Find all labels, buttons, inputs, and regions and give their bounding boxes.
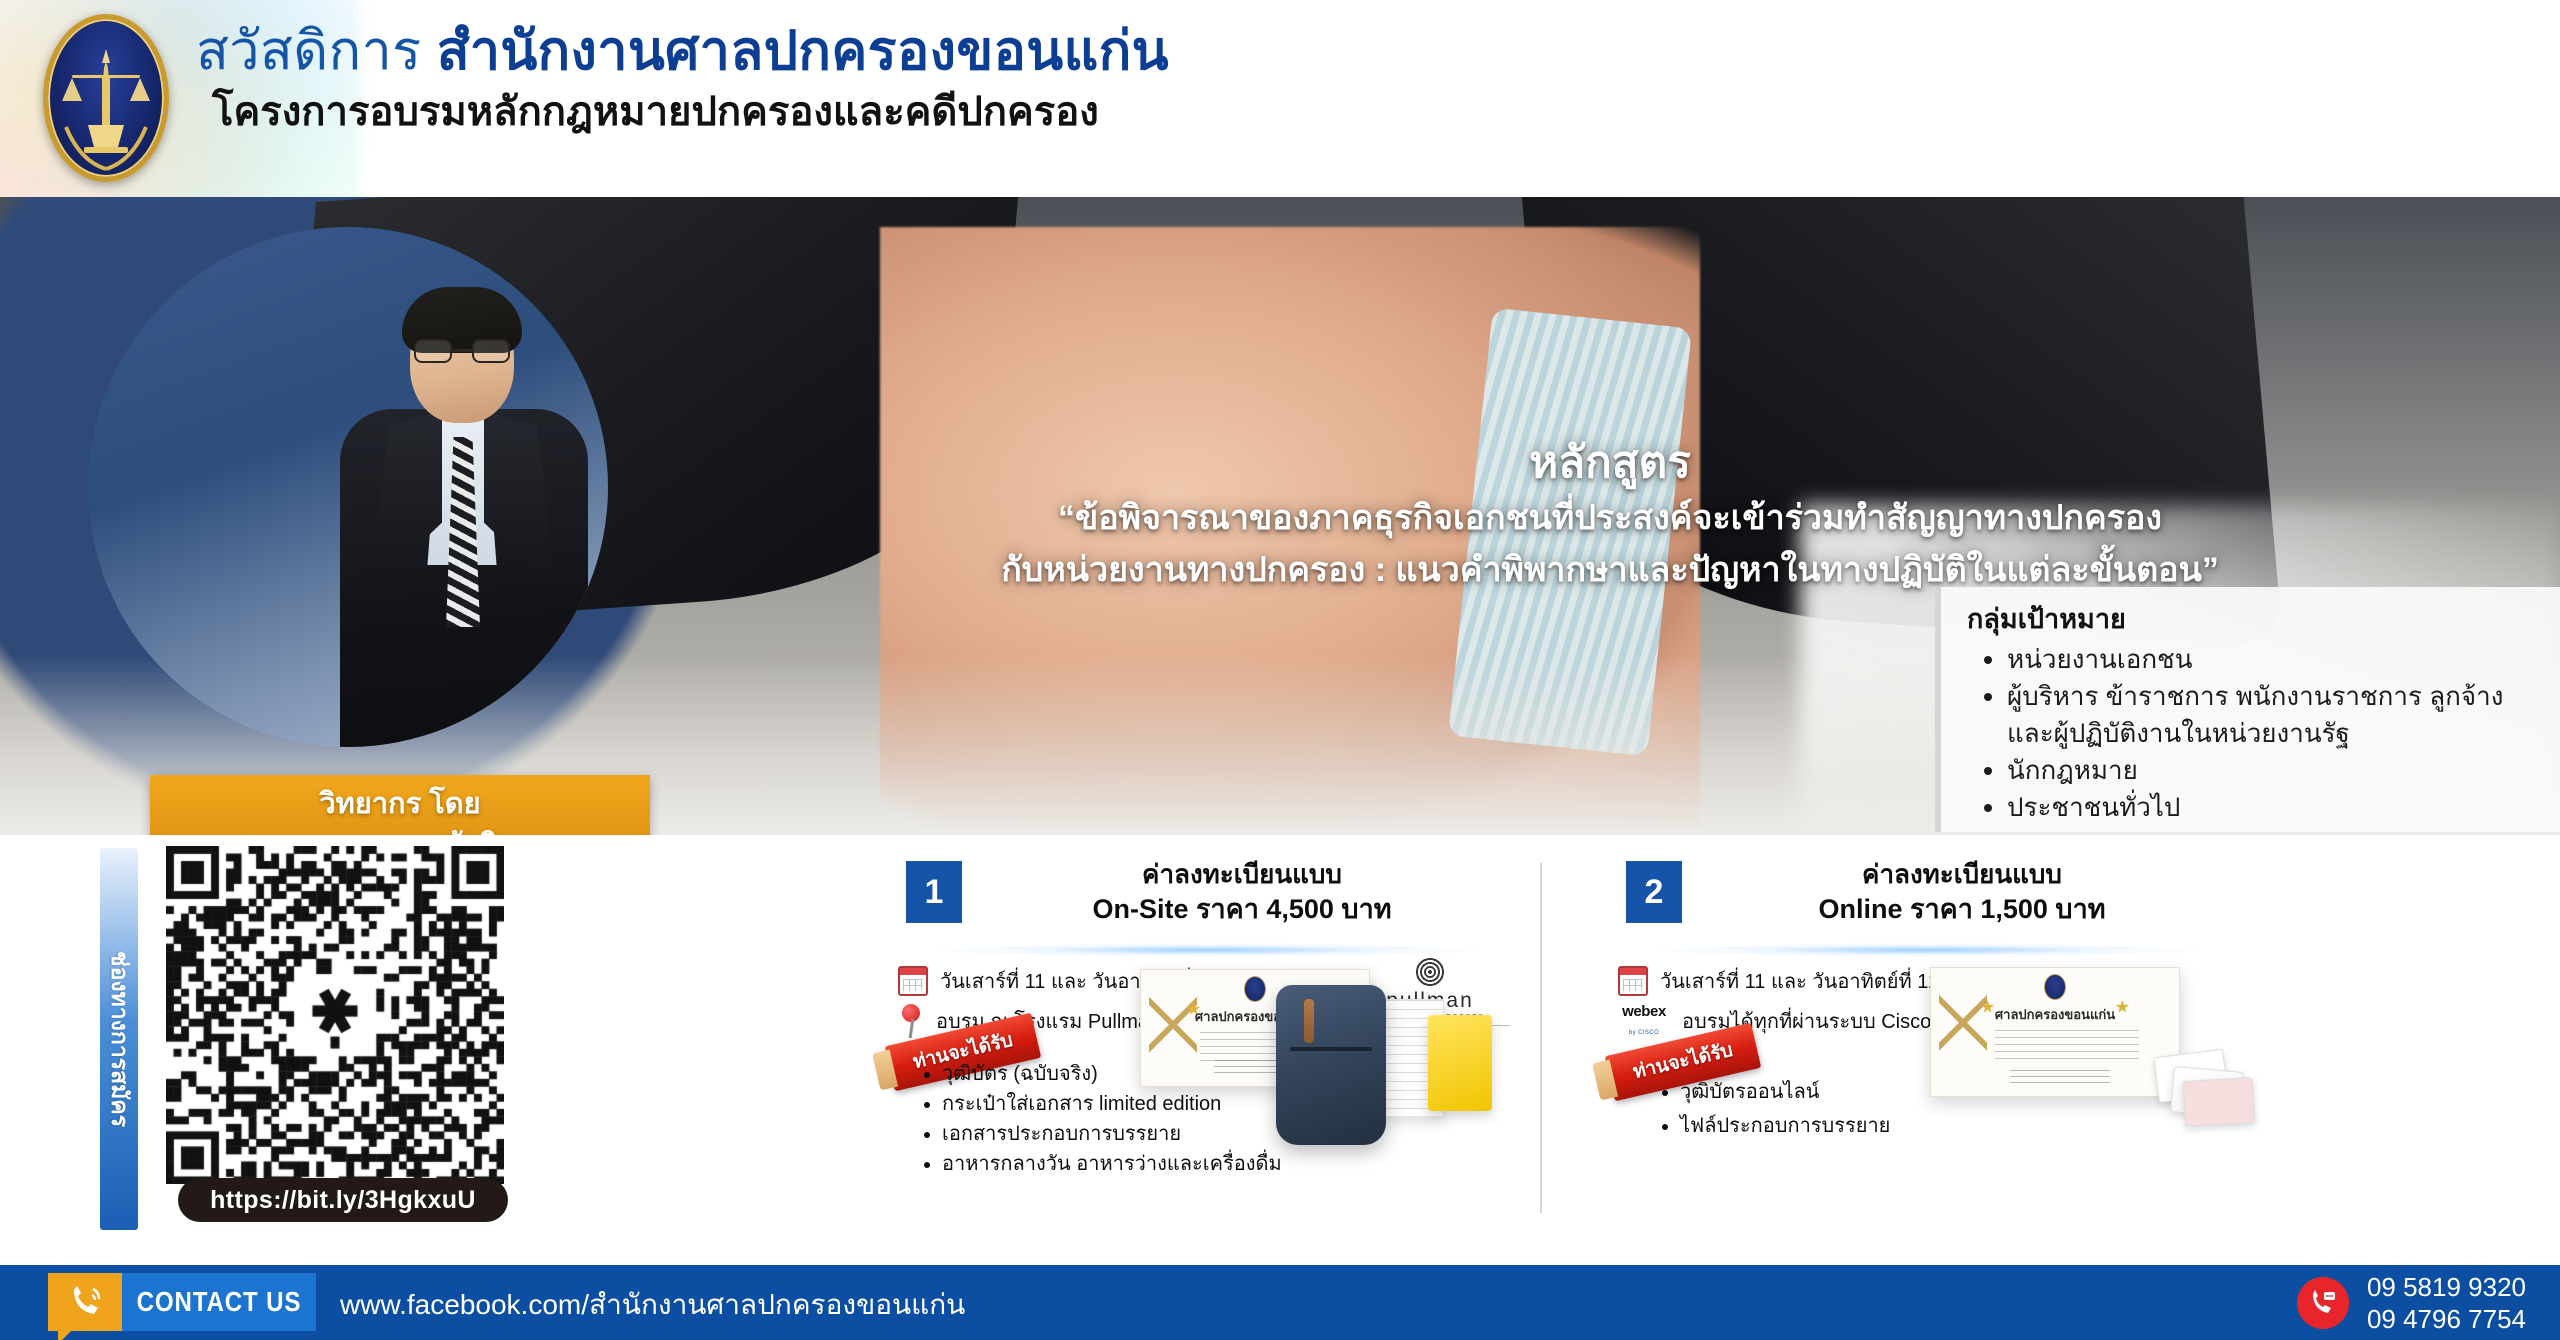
certificate-photo: ศาลปกครองขอนแก่น bbox=[1930, 967, 2180, 1097]
contact-us-label: CONTACT US bbox=[136, 1286, 303, 1318]
phone-numbers: 09 5819 9320 09 4796 7754 bbox=[2367, 1271, 2526, 1335]
phone-contact-group: 09 5819 9320 09 4796 7754 bbox=[2297, 1271, 2526, 1335]
qr-code[interactable] bbox=[160, 840, 510, 1190]
target-audience-heading: กลุ่มเป้าหมาย bbox=[1967, 601, 2542, 637]
administrative-court-seal-icon bbox=[43, 14, 169, 182]
package-sheen-decoration bbox=[1656, 943, 2196, 957]
page-title: สวัสดิการ สำนักงานศาลปกครองขอนแก่น bbox=[196, 18, 1796, 84]
package-title-line1: ค่าลงทะเบียนแบบ bbox=[990, 857, 1494, 891]
package-online: 2 ค่าลงทะเบียนแบบ Online ราคา 1,500 บาท … bbox=[1600, 857, 2240, 1143]
facebook-url[interactable]: www.facebook.com/สำนักงานศาลปกครองขอนแก่… bbox=[340, 1283, 965, 1327]
pullman-mark-icon bbox=[1415, 957, 1445, 987]
calendar-icon bbox=[898, 966, 928, 996]
poster-footer: CONTACT US www.facebook.com/สำนักงานศาลป… bbox=[0, 1265, 2560, 1340]
webex-tagline: by CISCO bbox=[1629, 1030, 1659, 1036]
poster-root: สวัสดิการ สำนักงานศาลปกครองขอนแก่น โครงก… bbox=[0, 0, 2560, 1340]
list-item: เอกสารประกอบการบรรยาย bbox=[942, 1119, 1520, 1149]
speaker-role-label: วิทยากร โดย bbox=[150, 784, 650, 824]
target-audience-list: หน่วยงานเอกชน ผู้บริหาร ข้าราชการ พนักงา… bbox=[2007, 641, 2542, 826]
contact-us-badge: CONTACT US bbox=[48, 1273, 316, 1331]
package-title-line2: On-Site ราคา 4,500 บาท bbox=[990, 891, 1494, 927]
header-title-block: สวัสดิการ สำนักงานศาลปกครองขอนแก่น โครงก… bbox=[196, 18, 1796, 140]
eyeglasses-icon bbox=[414, 339, 510, 363]
poster-header: สวัสดิการ สำนักงานศาลปกครองขอนแก่น โครงก… bbox=[0, 0, 2560, 197]
course-title-line1: “ข้อพิจารณาของภาคธุรกิจเอกชนที่ประสงค์จะ… bbox=[980, 495, 2240, 541]
course-label: หลักสูตร bbox=[980, 437, 2240, 489]
list-item: ผู้บริหาร ข้าราชการ พนักงานราชการ ลูกจ้า… bbox=[2007, 678, 2542, 752]
list-item: นักกฎหมาย bbox=[2007, 752, 2542, 789]
speaker-circle-backdrop bbox=[88, 227, 608, 747]
package-number-badge: 2 bbox=[1626, 861, 1682, 923]
speaker-portrait bbox=[318, 287, 608, 747]
phone-number-2: 09 4796 7754 bbox=[2367, 1304, 2526, 1334]
qr-channel-tab: ช่องทางการสมัคร bbox=[100, 848, 138, 1230]
speaker-name: นายอนุชา ฮุนสวัสดิกุล bbox=[150, 824, 650, 835]
map-pin-icon bbox=[898, 1004, 924, 1038]
backpack-photo bbox=[1276, 985, 1386, 1145]
speaker-scroll-banner: วิทยากร โดย นายอนุชา ฮุนสวัสดิกุล รองอธิ… bbox=[150, 775, 650, 835]
certificate-title: ศาลปกครองขอนแก่น bbox=[1931, 1004, 2179, 1025]
phone-chat-icon bbox=[2297, 1277, 2349, 1329]
webex-name: webex bbox=[1622, 1003, 1666, 1020]
calendar-icon bbox=[1618, 966, 1648, 996]
folder-photo bbox=[1428, 1015, 1492, 1111]
package-number-badge: 1 bbox=[906, 861, 962, 923]
package-sheen-decoration bbox=[936, 943, 1476, 957]
registration-qr-panel: ช่องทางการสมัคร https://bit.ly/3HgkxuU bbox=[100, 840, 560, 1240]
envelope-stack-photo bbox=[2156, 1053, 2252, 1123]
package-title-line1: ค่าลงทะเบียนแบบ bbox=[1710, 857, 2214, 891]
package-onsite: 1 ค่าลงทะเบียนแบบ On-Site ราคา 4,500 บาท… bbox=[880, 857, 1520, 1179]
list-item: อาหารกลางวัน อาหารว่างและเครื่องดื่ม bbox=[942, 1149, 1520, 1179]
qr-channel-label: ช่องทางการสมัคร bbox=[101, 951, 137, 1127]
registration-url[interactable]: https://bit.ly/3HgkxuU bbox=[178, 1178, 508, 1222]
list-item: ประชาชนทั่วไป bbox=[2007, 789, 2542, 826]
target-audience-card: กลุ่มเป้าหมาย หน่วยงานเอกชน ผู้บริหาร ข้… bbox=[1935, 587, 2560, 832]
phone-handset-icon bbox=[48, 1273, 122, 1331]
page-subtitle: โครงการอบรมหลักกฎหมายปกครองและคดีปกครอง bbox=[196, 84, 1796, 140]
webex-logo: webex by CISCO bbox=[1618, 1003, 1670, 1039]
package-title-line2: Online ราคา 1,500 บาท bbox=[1710, 891, 2214, 927]
band-divider bbox=[1540, 863, 1542, 1213]
phone-number-1: 09 5819 9320 bbox=[2367, 1272, 2526, 1302]
page-title-bold: สำนักงานศาลปกครองขอนแก่น bbox=[437, 21, 1169, 81]
page-title-prefix: สวัสดิการ bbox=[196, 21, 437, 81]
course-block: หลักสูตร “ข้อพิจารณาของภาคธุรกิจเอกชนที่… bbox=[980, 437, 2240, 593]
hero-section: หลักสูตร “ข้อพิจารณาของภาคธุรกิจเอกชนที่… bbox=[0, 197, 2560, 835]
list-item: หน่วยงานเอกชน bbox=[2007, 641, 2542, 678]
